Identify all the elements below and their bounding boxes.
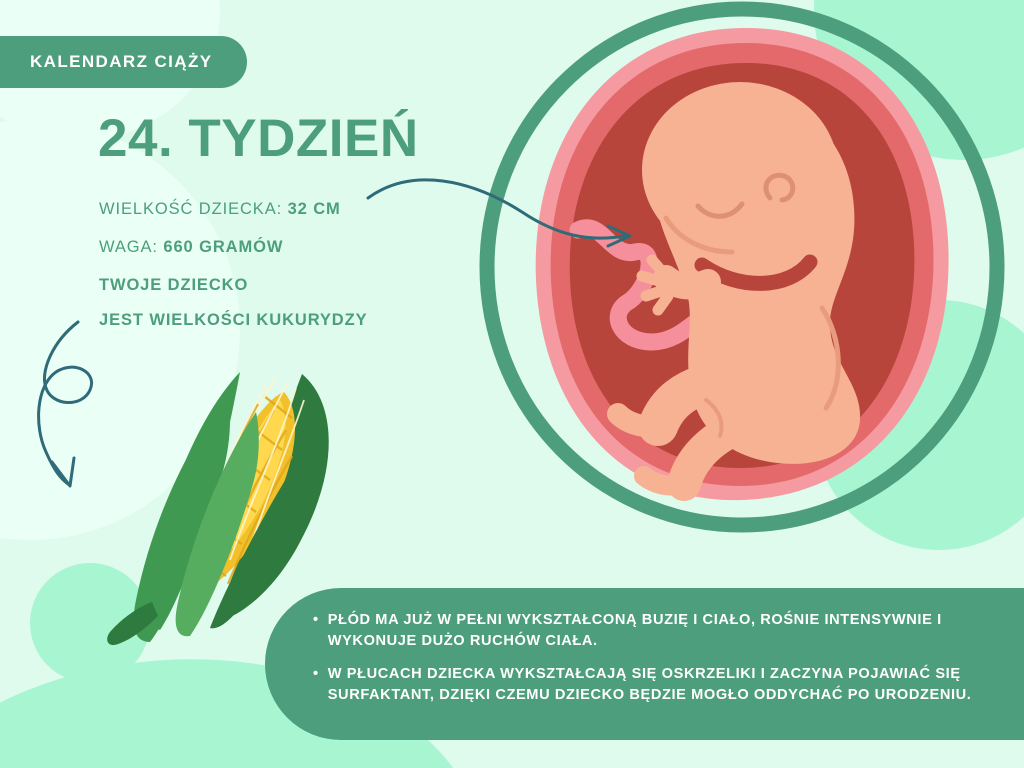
fetus-head <box>642 82 838 258</box>
fetus-in-womb-illustration <box>470 0 1024 575</box>
info-bullet-1-text: PŁÓD MA JUŻ W PEŁNI WYKSZTAŁCONĄ BUZIĘ I… <box>328 610 1024 651</box>
curved-arrow-pointing-to-womb <box>362 168 652 283</box>
arrow-right-curve <box>368 180 624 238</box>
stat-value-size: 32 CM <box>288 200 341 218</box>
fetus-foot-upper <box>618 414 658 426</box>
page-title: 24. TYDZIEŃ <box>98 112 419 165</box>
info-bullet-2: • W PŁUCACH DZIECKA WYKSZTAŁCAJĄ SIĘ OSK… <box>313 664 1024 705</box>
fetus-arm <box>666 278 708 286</box>
fetus-foot-lower <box>644 476 684 486</box>
arrow-right-svg <box>362 168 652 278</box>
calendar-badge-label: KALENDARZ CIĄŻY <box>30 52 213 72</box>
calendar-badge: KALENDARZ CIĄŻY <box>0 36 247 88</box>
arrow-left-svg <box>26 316 146 496</box>
bullet-dot-icon: • <box>313 610 319 651</box>
womb-svg <box>470 0 1024 570</box>
stat-label-weight: WAGA: <box>99 238 163 256</box>
info-box: • PŁÓD MA JUŻ W PEŁNI WYKSZTAŁCONĄ BUZIĘ… <box>265 588 1024 740</box>
fetus-body <box>618 82 860 486</box>
stat-label-size: WIELKOŚĆ DZIECKA: <box>99 200 288 218</box>
info-bullet-1: • PŁÓD MA JUŻ W PEŁNI WYKSZTAŁCONĄ BUZIĘ… <box>313 610 1024 651</box>
curly-arrow-pointing-to-corn <box>26 316 146 501</box>
stat-value-weight: 660 GRAMÓW <box>163 238 283 256</box>
infographic-canvas: KALENDARZ CIĄŻY 24. TYDZIEŃ WIELKOŚĆ DZI… <box>0 0 1024 768</box>
info-bullet-2-text: W PŁUCACH DZIECKA WYKSZTAŁCAJĄ SIĘ OSKRZ… <box>328 664 1024 705</box>
bullet-dot-icon: • <box>313 664 319 705</box>
arrow-left-curve <box>39 322 92 484</box>
stat-row-comparison-line2: JEST WIELKOŚCI KUKURYDZY <box>99 311 529 329</box>
